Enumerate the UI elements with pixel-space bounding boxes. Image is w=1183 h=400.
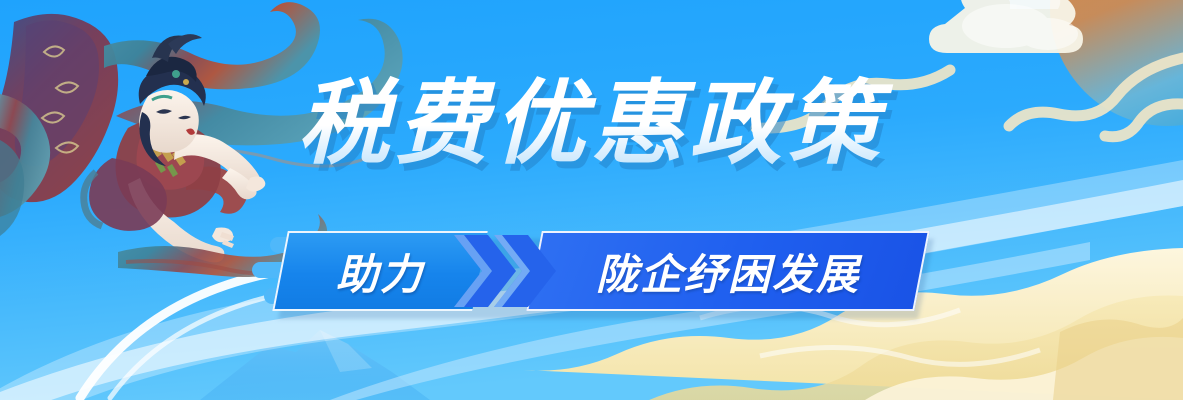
tax-policy-banner: 税费优惠政策 助力 陇企纾困发展 xyxy=(0,0,1183,400)
flying-apsara-figure xyxy=(0,0,1183,400)
subtitle-right-text: 陇企纾困发展 xyxy=(534,231,922,311)
subtitle-ribbon: 助力 陇企纾困发展 xyxy=(252,231,922,311)
subtitle-left-text: 助力 xyxy=(280,231,480,311)
